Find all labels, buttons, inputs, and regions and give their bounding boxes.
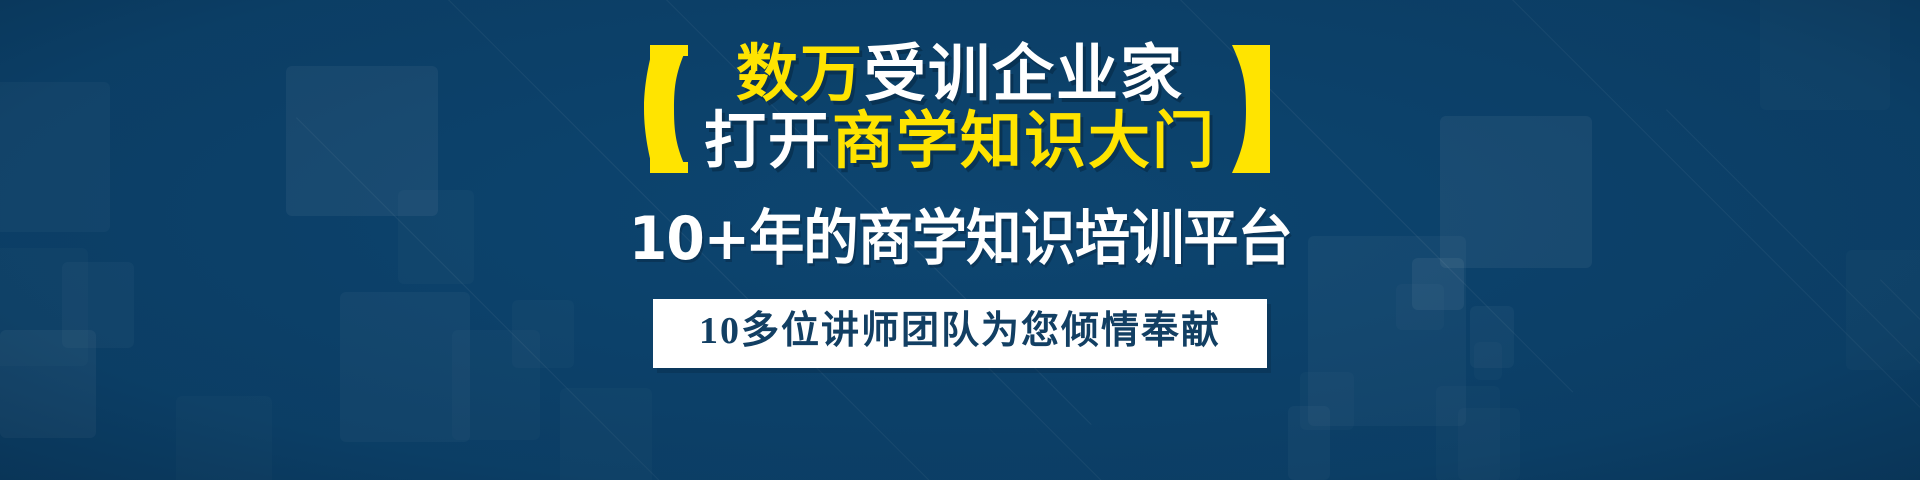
headline-line-1-part-1: 数万 (736, 41, 864, 109)
headline-block: 数万受训企业家 打开商学知识大门 (644, 44, 1276, 174)
right-bracket-icon (1230, 45, 1276, 173)
headline-line-2-part-1: 打开 (704, 108, 832, 176)
headline-line-2-part-2: 商学知识大门 (832, 108, 1216, 176)
tagline-text: 10多位讲师团队为您倾情奉献 (699, 308, 1221, 356)
headline-line-1-part-2: 受训企业家 (864, 41, 1184, 109)
tagline-box: 10多位讲师团队为您倾情奉献 (653, 299, 1267, 368)
headline-line-2: 打开商学知识大门 (704, 111, 1216, 174)
left-bracket-icon (644, 45, 690, 173)
subheadline: 10+年的商学知识培训平台 (628, 190, 1291, 277)
headline-line-1: 数万受训企业家 (736, 44, 1184, 107)
banner-content: 数万受训企业家 打开商学知识大门 10+年的商学知识培训平台 10多位讲师团队为… (0, 0, 1920, 480)
promo-banner: 数万受训企业家 打开商学知识大门 10+年的商学知识培训平台 10多位讲师团队为… (0, 0, 1920, 480)
headline-lines: 数万受训企业家 打开商学知识大门 (704, 44, 1216, 174)
